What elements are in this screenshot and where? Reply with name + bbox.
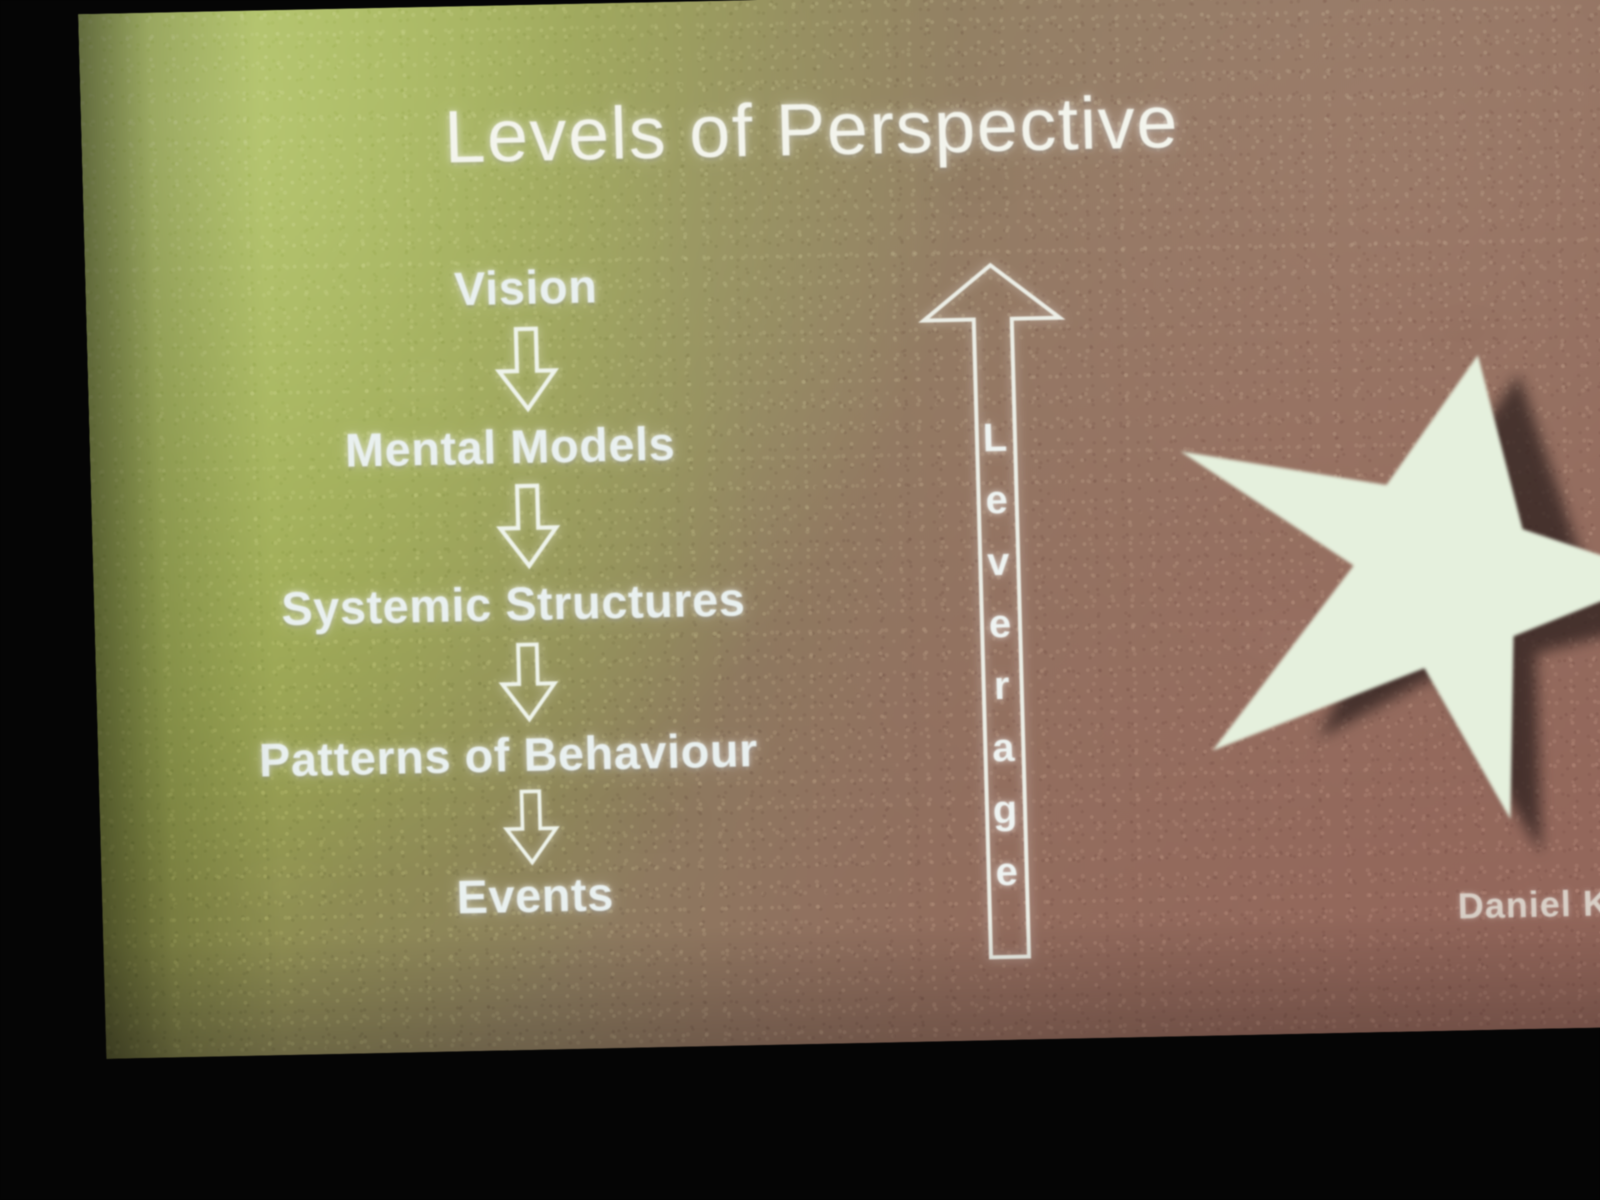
level-label-vision: Vision	[185, 253, 866, 322]
arrow-row-1	[185, 318, 869, 420]
slide-title: Levels of Perspective	[370, 78, 1252, 181]
leverage-label: L e v e r a g e	[904, 405, 1097, 905]
projected-slide-photo: Levels of Perspective Vision Mental Mode…	[0, 0, 1600, 1200]
down-arrow-icon	[489, 640, 567, 724]
starfish-image	[1097, 310, 1600, 883]
leverage-letter-5: r	[993, 655, 1010, 717]
level-label-systemic-structures: Systemic Structures	[152, 569, 875, 639]
slide-content: Levels of Perspective Vision Mental Mode…	[78, 0, 1600, 1059]
starfish-body	[1097, 310, 1600, 883]
down-arrow-icon	[486, 324, 568, 414]
level-label-mental-models: Mental Models	[149, 412, 870, 482]
leverage-letter-4: e	[988, 593, 1012, 655]
arrow-row-3	[179, 634, 877, 731]
leverage-letter-6: a	[991, 717, 1015, 779]
level-label-patterns-of-behaviour: Patterns of Behaviour	[138, 720, 879, 790]
leverage-letter-7: g	[992, 779, 1018, 841]
down-arrow-icon	[494, 787, 568, 866]
leverage-letter-3: v	[986, 531, 1010, 593]
levels-of-perspective-diagram: Vision Mental Models Systemic Structures	[125, 253, 883, 931]
leverage-letter-8: e	[995, 841, 1019, 903]
leverage-arrow-group: L e v e r a g e	[900, 255, 1099, 965]
leverage-letter-1: L	[982, 407, 1008, 469]
arrow-row-4	[181, 781, 881, 874]
arrow-row-2	[183, 475, 873, 577]
leverage-letter-2: e	[985, 469, 1009, 531]
author-credit: Daniel Kim	[1457, 881, 1600, 927]
slide-surface: Levels of Perspective Vision Mental Mode…	[78, 0, 1600, 1059]
level-label-events: Events	[188, 861, 883, 931]
down-arrow-icon	[487, 481, 569, 571]
